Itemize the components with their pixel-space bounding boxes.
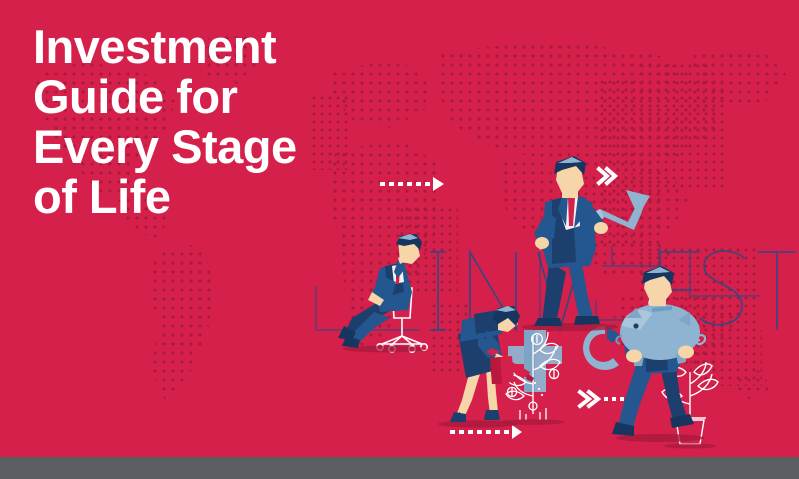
investment-guide-banner: Investment Guide for Every Stage of Life xyxy=(0,0,799,479)
bottom-bar xyxy=(0,457,799,479)
man-carrying-piggy-bank xyxy=(0,0,799,479)
